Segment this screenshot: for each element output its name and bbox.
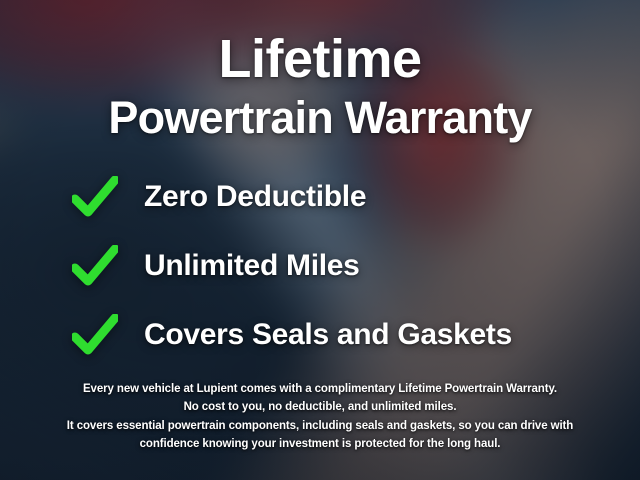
body-copy-line-4: confidence knowing your investment is pr…	[36, 435, 604, 454]
headline-line-1: Lifetime	[0, 32, 640, 86]
feature-label: Zero Deductible	[144, 180, 366, 214]
body-copy-line-3: It covers essential powertrain component…	[36, 417, 604, 436]
feature-item-zero-deductible: Zero Deductible	[72, 176, 366, 218]
feature-item-covers-seals-and-gaskets: Covers Seals and Gaskets	[72, 314, 512, 356]
promotional-banner: Lifetime Powertrain Warranty Zero Deduct…	[0, 0, 640, 480]
headline-line-2: Powertrain Warranty	[0, 95, 640, 140]
check-icon	[72, 314, 118, 356]
feature-label: Covers Seals and Gaskets	[144, 318, 512, 352]
feature-list: Zero Deductible Unlimited Miles Covers S…	[0, 176, 640, 356]
body-copy-line-2: No cost to you, no deductible, and unlim…	[36, 398, 604, 417]
banner-content: Lifetime Powertrain Warranty Zero Deduct…	[0, 0, 640, 480]
feature-item-unlimited-miles: Unlimited Miles	[72, 245, 360, 287]
feature-label: Unlimited Miles	[144, 249, 360, 283]
body-copy: Every new vehicle at Lupient comes with …	[0, 380, 640, 455]
check-icon	[72, 176, 118, 218]
check-icon	[72, 245, 118, 287]
body-copy-line-1: Every new vehicle at Lupient comes with …	[36, 380, 604, 399]
